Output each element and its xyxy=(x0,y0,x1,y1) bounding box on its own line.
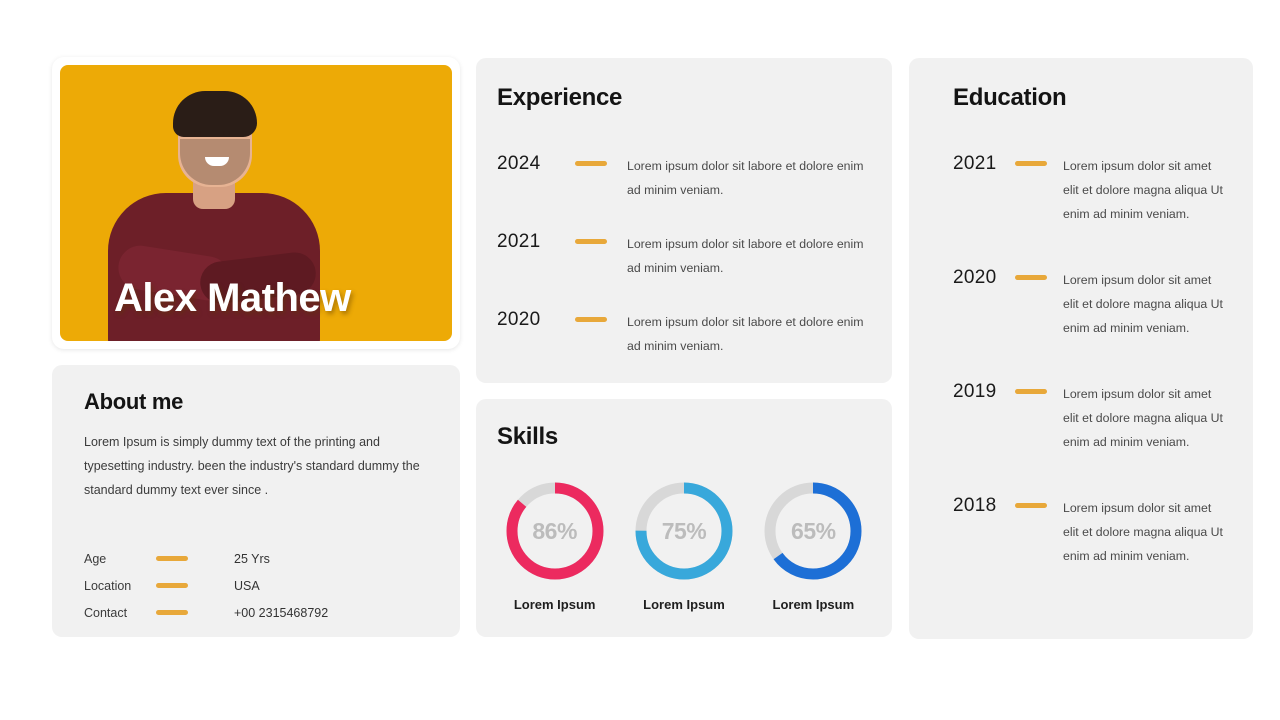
experience-year: 2020 xyxy=(497,310,575,330)
skill-item: 75% Lorem Ipsum xyxy=(624,479,744,612)
dash-icon xyxy=(1015,275,1047,280)
experience-card: Experience 2024 Lorem ipsum dolor sit la… xyxy=(476,58,892,383)
donut-chart: 86% xyxy=(503,479,607,583)
fact-value: USA xyxy=(234,579,260,593)
education-description: Lorem ipsum dolor sit amet elit et dolor… xyxy=(1063,154,1223,226)
skill-label: Lorem Ipsum xyxy=(753,597,873,612)
resume-page: Alex Mathew About me Lorem Ipsum is simp… xyxy=(0,0,1280,720)
fact-separator xyxy=(156,583,234,588)
fact-value: 25 Yrs xyxy=(234,552,270,566)
fact-label: Location xyxy=(84,579,156,593)
experience-separator xyxy=(575,232,627,244)
experience-item: 2020 Lorem ipsum dolor sit labore et dol… xyxy=(497,310,877,358)
person-name: Alex Mathew xyxy=(114,276,351,321)
dash-icon xyxy=(575,239,607,244)
donut-percent-label: 65% xyxy=(761,479,865,583)
dash-icon xyxy=(156,556,188,561)
skills-card: Skills 86% Lorem Ipsum xyxy=(476,399,892,637)
profile-photo-card: Alex Mathew xyxy=(52,57,460,349)
education-item: 2018 Lorem ipsum dolor sit amet elit et … xyxy=(953,496,1223,568)
dash-icon xyxy=(156,583,188,588)
experience-description: Lorem ipsum dolor sit labore et dolore e… xyxy=(627,232,877,280)
education-description: Lorem ipsum dolor sit amet elit et dolor… xyxy=(1063,382,1223,454)
education-separator xyxy=(1015,496,1063,508)
fact-row: Contact +00 2315468792 xyxy=(84,599,424,626)
profile-photo: Alex Mathew xyxy=(60,65,452,341)
education-timeline: 2021 Lorem ipsum dolor sit amet elit et … xyxy=(953,154,1223,610)
education-year: 2018 xyxy=(953,496,1015,516)
education-item: 2021 Lorem ipsum dolor sit amet elit et … xyxy=(953,154,1223,226)
skill-item: 86% Lorem Ipsum xyxy=(495,479,615,612)
experience-separator xyxy=(575,310,627,322)
experience-description: Lorem ipsum dolor sit labore et dolore e… xyxy=(627,154,877,202)
fact-row: Location USA xyxy=(84,572,424,599)
education-year: 2020 xyxy=(953,268,1015,288)
fact-separator xyxy=(156,556,234,561)
skills-donut-group: 86% Lorem Ipsum 75% Lorem Ipsum xyxy=(490,479,878,612)
about-me-card: About me Lorem Ipsum is simply dummy tex… xyxy=(52,365,460,637)
experience-year: 2021 xyxy=(497,232,575,252)
donut-chart: 65% xyxy=(761,479,865,583)
experience-separator xyxy=(575,154,627,166)
education-year: 2021 xyxy=(953,154,1015,174)
donut-chart: 75% xyxy=(632,479,736,583)
experience-item: 2024 Lorem ipsum dolor sit labore et dol… xyxy=(497,154,877,202)
fact-row: Age 25 Yrs xyxy=(84,545,424,572)
fact-separator xyxy=(156,610,234,615)
education-separator xyxy=(1015,382,1063,394)
dash-icon xyxy=(575,161,607,166)
skills-title: Skills xyxy=(497,423,558,451)
donut-percent-label: 75% xyxy=(632,479,736,583)
education-separator xyxy=(1015,268,1063,280)
dash-icon xyxy=(1015,389,1047,394)
education-year: 2019 xyxy=(953,382,1015,402)
education-separator xyxy=(1015,154,1063,166)
dash-icon xyxy=(1015,161,1047,166)
fact-label: Contact xyxy=(84,606,156,620)
education-item: 2019 Lorem ipsum dolor sit amet elit et … xyxy=(953,382,1223,454)
experience-item: 2021 Lorem ipsum dolor sit labore et dol… xyxy=(497,232,877,280)
education-card: Education 2021 Lorem ipsum dolor sit ame… xyxy=(909,58,1253,639)
donut-percent-label: 86% xyxy=(503,479,607,583)
education-description: Lorem ipsum dolor sit amet elit et dolor… xyxy=(1063,268,1223,340)
skill-label: Lorem Ipsum xyxy=(624,597,744,612)
education-title: Education xyxy=(953,84,1066,112)
experience-timeline: 2024 Lorem ipsum dolor sit labore et dol… xyxy=(497,154,877,388)
education-description: Lorem ipsum dolor sit amet elit et dolor… xyxy=(1063,496,1223,568)
dash-icon xyxy=(575,317,607,322)
experience-year: 2024 xyxy=(497,154,575,174)
fact-label: Age xyxy=(84,552,156,566)
education-item: 2020 Lorem ipsum dolor sit amet elit et … xyxy=(953,268,1223,340)
about-me-facts: Age 25 Yrs Location USA Contact +00 2315… xyxy=(84,545,424,626)
skill-label: Lorem Ipsum xyxy=(495,597,615,612)
dash-icon xyxy=(156,610,188,615)
fact-value: +00 2315468792 xyxy=(234,606,328,620)
experience-description: Lorem ipsum dolor sit labore et dolore e… xyxy=(627,310,877,358)
dash-icon xyxy=(1015,503,1047,508)
experience-title: Experience xyxy=(497,84,622,112)
about-me-text: Lorem Ipsum is simply dummy text of the … xyxy=(84,430,434,502)
skill-item: 65% Lorem Ipsum xyxy=(753,479,873,612)
about-me-title: About me xyxy=(84,389,183,415)
